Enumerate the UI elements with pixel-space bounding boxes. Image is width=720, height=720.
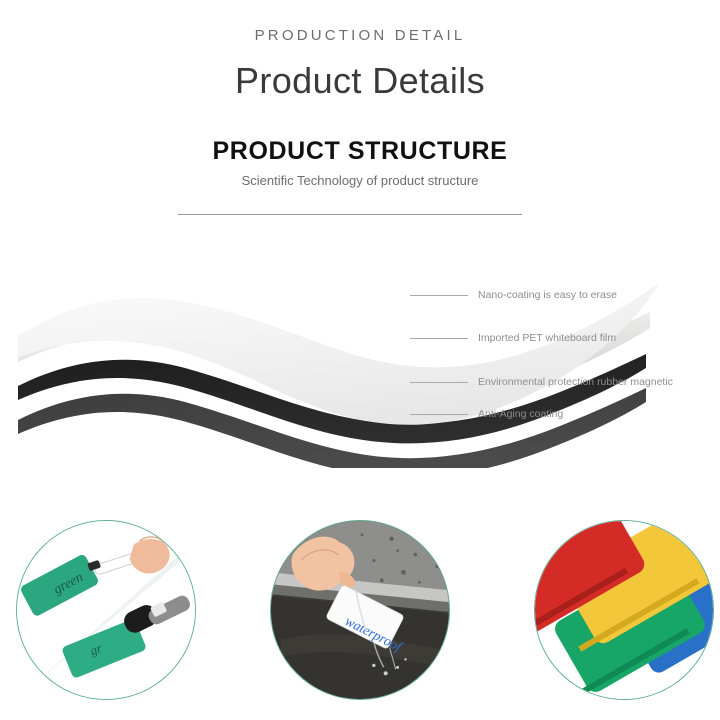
leader-line-icon [410,414,468,415]
header-divider [178,214,522,215]
callout-nano-coating: Nano-coating is easy to erase [410,288,617,302]
leader-line-icon [410,382,468,383]
callout-label: Anti-Aging coating [478,407,563,421]
callout-label: Environmental protection rubber magnetic [478,375,673,389]
section-title: PRODUCT STRUCTURE [0,137,720,166]
eyebrow-label: PRODUCTION DETAIL [0,27,720,44]
callout-anti-aging: Anti-Aging coating [410,407,563,421]
callout-label: Imported PET whiteboard film [478,331,616,345]
section-subtitle: Scientific Technology of product structu… [0,173,720,188]
feature-color-options[interactable] [534,520,714,700]
feature-erasable-writing[interactable]: green gr [16,520,196,700]
feature-image-row: green gr [0,520,720,710]
feature-waterproof[interactable]: waterproof [270,520,450,700]
leader-line-icon [410,338,468,339]
callout-pet-film: Imported PET whiteboard film [410,331,616,345]
callout-label: Nano-coating is easy to erase [478,288,617,302]
layer-callouts: Nano-coating is easy to erase Imported P… [0,218,720,468]
callout-rubber-magnetic: Environmental protection rubber magnetic [410,375,673,389]
product-detail-page: PRODUCTION DETAIL Product Details PRODUC… [0,0,720,720]
page-title: Product Details [0,60,720,102]
leader-line-icon [410,295,468,296]
